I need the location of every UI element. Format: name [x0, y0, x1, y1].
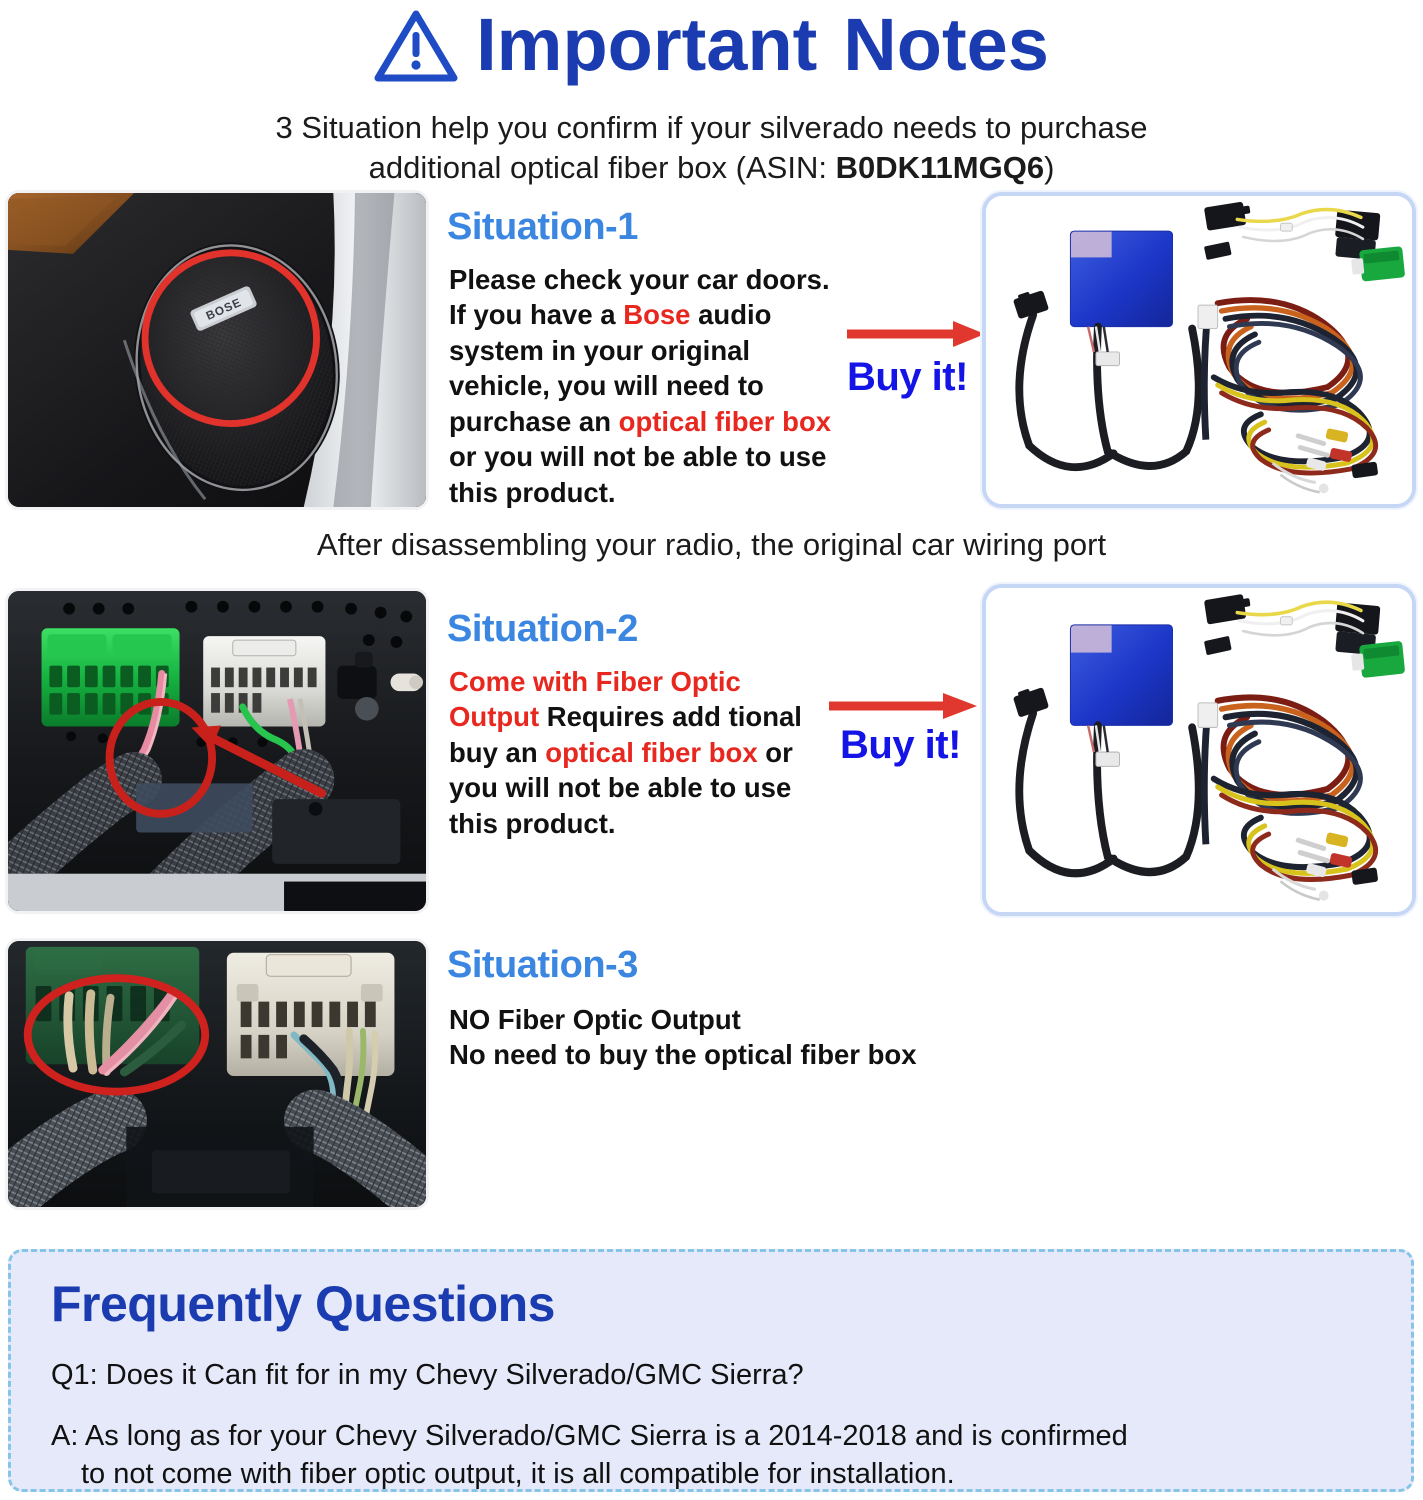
page-title-word-1: Important — [476, 3, 817, 86]
situation-1-photo: BOSE — [5, 190, 429, 510]
subtitle-line-2: additional optical fiber box (ASIN: B0DK… — [0, 148, 1423, 188]
situation-2-product-image — [982, 584, 1416, 916]
faq-answer: A: As long as for your Chevy Silverado/G… — [51, 1417, 1375, 1494]
situation-3-body: NO Fiber Optic Output No need to buy the… — [449, 1002, 1009, 1073]
mid-caption: After disassembling your radio, the orig… — [0, 527, 1423, 563]
car-door-bose-speaker-image: BOSE — [8, 193, 426, 507]
situation-1-buy-label: Buy it! — [847, 355, 968, 400]
situation-1-seg-3: optical fiber box — [619, 406, 831, 437]
optical-fiber-box-harness-image — [986, 588, 1412, 912]
asin-code: B0DK11MGQ6 — [836, 150, 1044, 185]
red-right-arrow-icon — [845, 318, 987, 350]
subtitle-line-1: 3 Situation help you confirm if your sil… — [0, 108, 1423, 148]
situation-1-body: Please check your car doors. If you have… — [449, 262, 849, 510]
page-header: ImportantNotes — [0, 8, 1423, 82]
radio-wiring-port-green-connector-image — [8, 591, 426, 911]
situation-3-photo — [5, 938, 429, 1210]
faq-title: Frequently Questions — [51, 1278, 1375, 1331]
optical-fiber-box-harness-image — [986, 196, 1412, 504]
situation-1-heading: Situation-1 — [447, 206, 638, 249]
faq-panel: Frequently Questions Q1: Does it Can fit… — [8, 1249, 1414, 1492]
situation-2-heading: Situation-2 — [447, 608, 638, 651]
subtitle-line-2-suffix: ) — [1044, 150, 1054, 185]
faq-question: Q1: Does it Can fit for in my Chevy Silv… — [51, 1357, 1375, 1393]
page-title-word-2: Notes — [843, 3, 1049, 86]
situation-3-heading: Situation-3 — [447, 944, 638, 987]
subtitle-colon: : — [818, 150, 835, 185]
situation-1-arrow — [845, 318, 987, 350]
page-subtitle: 3 Situation help you confirm if your sil… — [0, 108, 1423, 189]
situation-1-seg-4: or you will not be able to use this prod… — [449, 441, 826, 507]
situation-3-line-2: No need to buy the optical fiber box — [449, 1037, 1009, 1072]
page-title: ImportantNotes — [476, 8, 1049, 82]
situation-2-body: Come with Fiber Optic Output Requires ad… — [449, 664, 821, 841]
situation-2-arrow — [827, 690, 979, 722]
situation-1-seg-1: Bose — [623, 299, 690, 330]
situation-1-product-image — [982, 192, 1416, 508]
radio-wiring-port-no-fiber-image — [8, 941, 426, 1207]
subtitle-line-2-prefix: additional optical fiber box (ASIN — [369, 150, 819, 185]
situation-2-photo — [5, 588, 429, 914]
faq-answer-line-1: A: As long as for your Chevy Silverado/G… — [51, 1420, 1128, 1452]
warning-triangle-icon — [374, 8, 458, 82]
faq-answer-line-2: to not come with fiber optic output, it … — [51, 1455, 1375, 1493]
red-right-arrow-icon — [827, 690, 979, 722]
situation-2-buy-label: Buy it! — [840, 723, 961, 768]
infographic-page: ImportantNotes 3 Situation help you conf… — [0, 0, 1423, 1500]
situation-2-seg-2: optical fiber box — [545, 737, 757, 768]
situation-3-line-1: NO Fiber Optic Output — [449, 1002, 1009, 1037]
